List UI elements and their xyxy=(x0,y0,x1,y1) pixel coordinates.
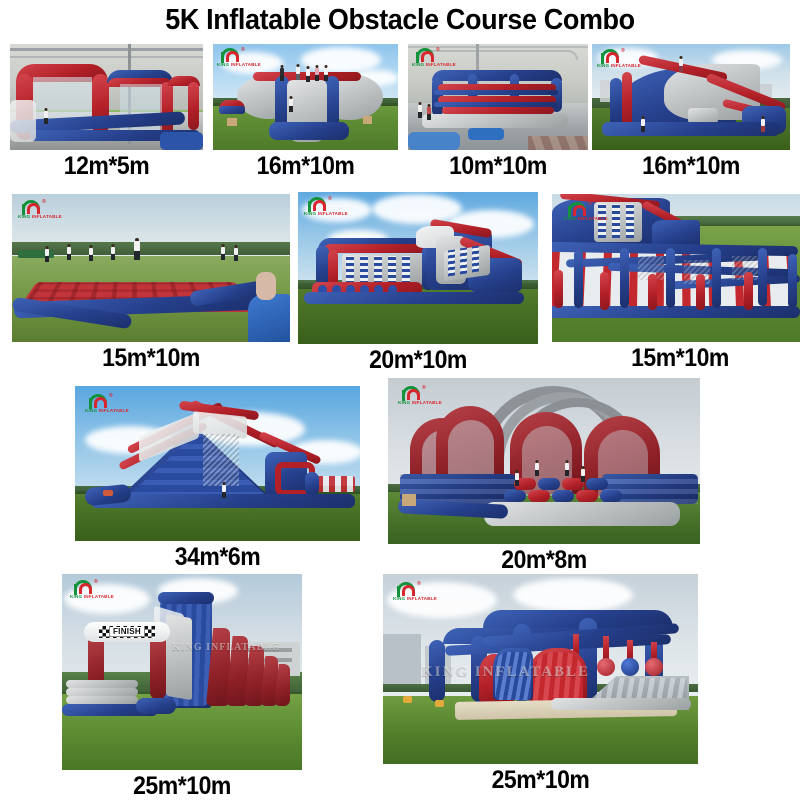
king-inflatable-logo: ® KING INFLATABLE xyxy=(597,49,641,71)
gallery-caption-11: 25m*10m xyxy=(396,766,686,794)
king-inflatable-logo: ® KING INFLATABLE xyxy=(217,48,261,70)
king-inflatable-logo: ® KING INFLATABLE xyxy=(18,200,62,222)
gallery-caption-5: 15m*10m xyxy=(23,344,279,372)
gallery-item-4[interactable]: ® KING INFLATABLE xyxy=(592,44,790,150)
gallery-caption-3: 10m*10m xyxy=(415,152,581,180)
gallery-item-5[interactable]: ® KING INFLATABLE xyxy=(12,194,290,342)
gallery-item-10[interactable]: FINISH KING INFLATABLE ® KING INFLATABLE xyxy=(62,574,302,770)
gallery-caption-6: 20m*10m xyxy=(308,346,529,374)
gallery-item-6[interactable]: ® KING INFLATABLE xyxy=(298,192,538,344)
product-photo-10: FINISH KING INFLATABLE xyxy=(62,574,302,770)
king-inflatable-logo: ® KING INFLATABLE xyxy=(70,580,114,602)
king-inflatable-logo: ® KING INFLATABLE xyxy=(85,394,129,416)
gallery-caption-8: 34m*6m xyxy=(86,543,348,571)
gallery-item-8[interactable]: ® KING INFLATABLE xyxy=(75,386,360,541)
king-inflatable-logo: ® KING INFLATABLE xyxy=(304,197,348,219)
gallery-caption-9: 20m*8m xyxy=(400,546,687,574)
page-title: 5K Inflatable Obstacle Course Combo xyxy=(28,2,772,38)
gallery-caption-4: 16m*10m xyxy=(600,152,782,180)
gallery-caption-7: 15m*10m xyxy=(570,344,791,372)
king-inflatable-logo: ® KING INFLATABLE xyxy=(412,48,456,70)
king-inflatable-logo: ® KING INFLATABLE xyxy=(398,386,442,408)
gallery-item-2[interactable]: ® KING INFLATABLE xyxy=(213,44,398,150)
king-inflatable-logo: ® KING INFLATABLE xyxy=(393,582,437,604)
center-watermark: KING INFLATABLE xyxy=(421,664,590,681)
center-watermark: KING INFLATABLE xyxy=(172,642,280,653)
gallery-item-1[interactable]: ® KING INFLATABLE xyxy=(10,44,203,150)
king-inflatable-logo: ® KING INFLATABLE xyxy=(564,202,608,224)
finish-banner: FINISH xyxy=(84,622,170,642)
gallery-caption-10: 25m*10m xyxy=(72,772,293,800)
finish-label: FINISH xyxy=(110,627,144,636)
product-image-canvas: 5K Inflatable Obstacle Course Combo xyxy=(0,0,800,800)
gallery-caption-1: 12m*5m xyxy=(18,152,196,180)
gallery-item-3[interactable]: ® KING INFLATABLE xyxy=(408,44,588,150)
gallery-item-7[interactable]: ® KING INFLATABLE xyxy=(552,194,800,342)
gallery-caption-2: 16m*10m xyxy=(220,152,390,180)
gallery-item-9[interactable]: ® KING INFLATABLE xyxy=(388,378,700,544)
gallery-item-11[interactable]: KING INFLATABLE ® KING INFLATABLE xyxy=(383,574,698,764)
